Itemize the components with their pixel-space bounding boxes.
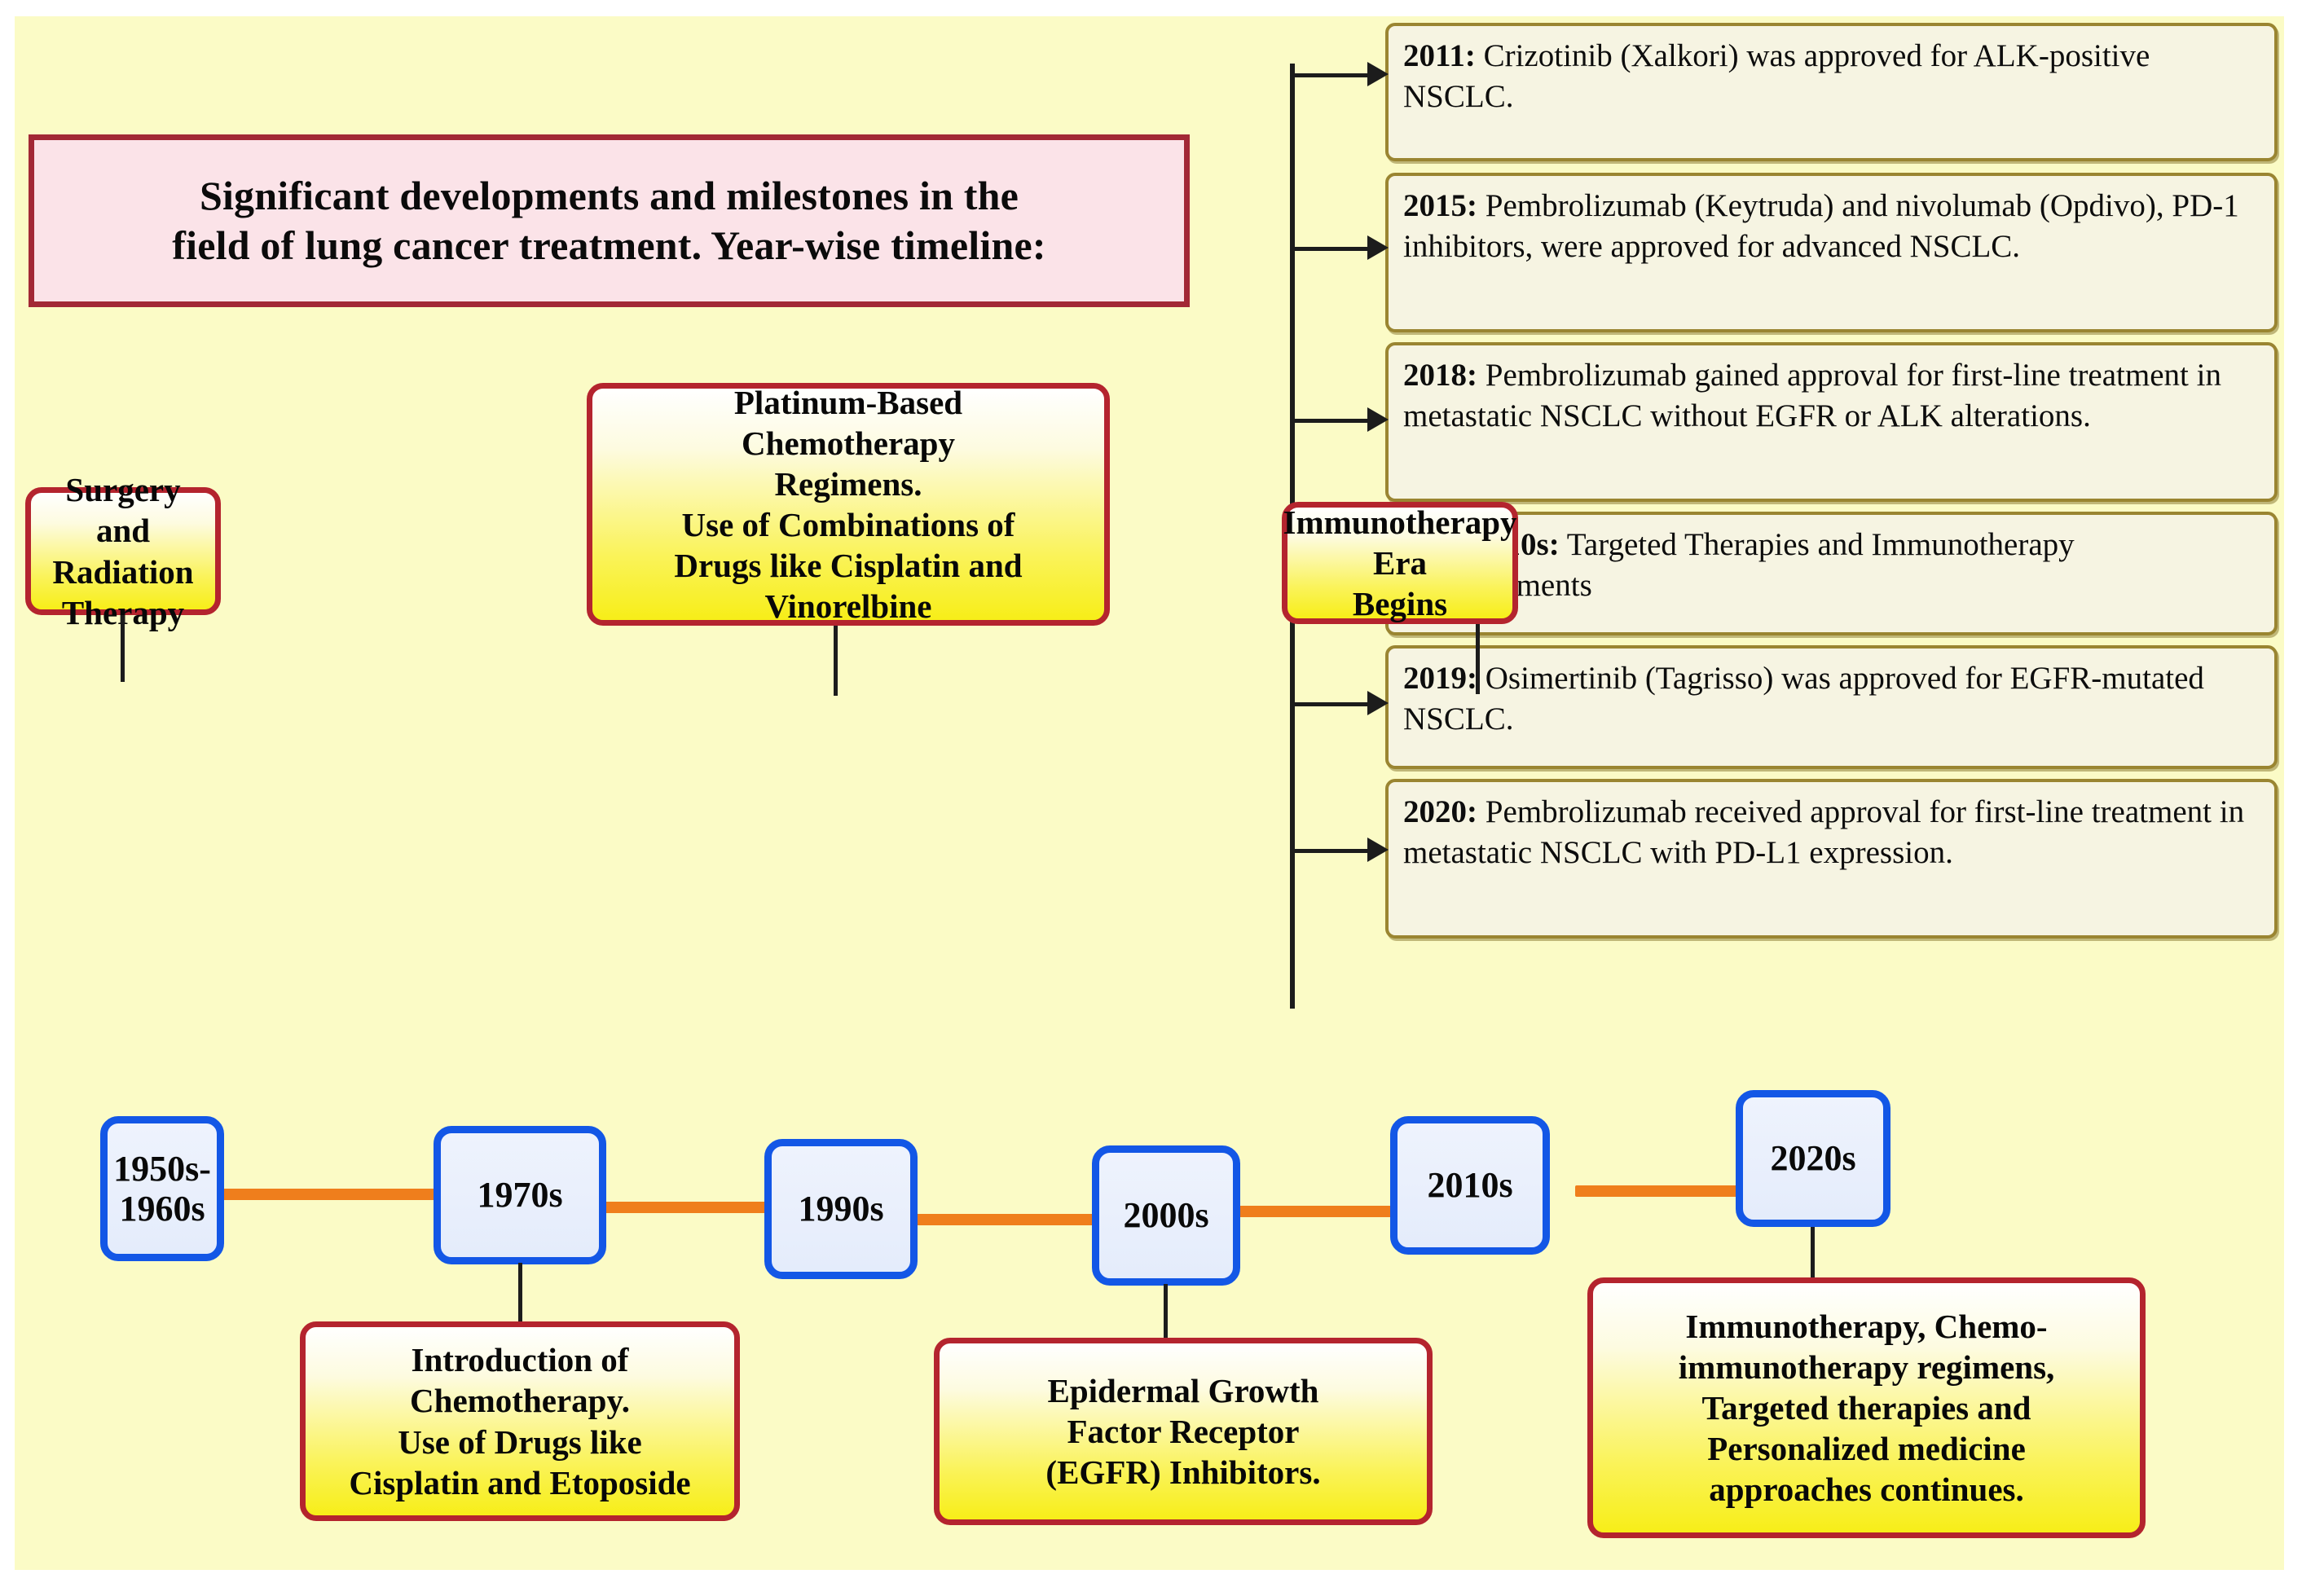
milestone-text-2015: Pembrolizumab (Keytruda) and nivolumab (… bbox=[1403, 188, 2239, 264]
callout-line: Cisplatin and Etoposide bbox=[349, 1464, 690, 1501]
milestone-box-2011: 2011: Crizotinib (Xalkori) was approved … bbox=[1385, 23, 2278, 161]
callout-platinum-chemotherapy: Platinum-Based Chemotherapy Regimens. Us… bbox=[587, 383, 1110, 626]
milestone-year-2015: 2015: bbox=[1403, 188, 1477, 223]
milestone-box-late-2010s: Late 2010s: Targeted Therapies and Immun… bbox=[1385, 512, 2278, 635]
arrow-icon-2015 bbox=[1367, 235, 1389, 260]
milestone-box-2019: 2019: Osimertinib (Tagrisso) was approve… bbox=[1385, 645, 2278, 769]
callout-line: Immunotherapy Era bbox=[1283, 503, 1516, 582]
milestone-branch-line-2015 bbox=[1292, 247, 1372, 251]
node-line: 1950s- bbox=[113, 1149, 211, 1189]
milestone-box-2015: 2015: Pembrolizumab (Keytruda) and nivol… bbox=[1385, 173, 2278, 332]
timeline-connector-4 bbox=[1237, 1206, 1392, 1217]
callout-immunotherapy-era: Immunotherapy Era Begins bbox=[1282, 502, 1518, 624]
arrow-icon-2019 bbox=[1367, 691, 1389, 715]
timeline-node-label-2000s: 2000s bbox=[1123, 1195, 1208, 1235]
milestone-text-2011: Crizotinib (Xalkori) was approved for AL… bbox=[1403, 38, 2150, 114]
callout-line: Personalized medicine bbox=[1707, 1430, 2026, 1467]
arrow-icon-2011 bbox=[1367, 62, 1389, 86]
callout-modern-text: Immunotherapy, Chemo- immunotherapy regi… bbox=[1679, 1306, 2055, 1510]
callout-surgery-radiation: Surgery and Radiation Therapy bbox=[25, 487, 221, 615]
callout-line: Use of Combinations of bbox=[682, 506, 1015, 543]
callout-line: Regimens. bbox=[774, 465, 922, 503]
callout-line: Introduction of bbox=[412, 1341, 629, 1378]
diagram-title-box: Significant developments and milestones … bbox=[29, 134, 1190, 307]
callout-line: Chemotherapy bbox=[742, 424, 955, 462]
timeline-node-2020s[interactable]: 2020s bbox=[1736, 1090, 1890, 1227]
callout-line: approaches continues. bbox=[1709, 1471, 2024, 1508]
timeline-connector-1 bbox=[222, 1189, 436, 1200]
milestone-branch-line-2018 bbox=[1292, 419, 1372, 423]
timeline-connector-5 bbox=[1575, 1185, 1738, 1197]
timeline-node-label-1970s: 1970s bbox=[477, 1175, 562, 1215]
callout-platinum-text: Platinum-Based Chemotherapy Regimens. Us… bbox=[674, 382, 1022, 627]
milestone-branch-line-2011 bbox=[1292, 73, 1372, 77]
arrow-icon-2020 bbox=[1367, 838, 1389, 862]
callout-line: (EGFR) Inhibitors. bbox=[1045, 1453, 1320, 1491]
callout-line: Chemotherapy. bbox=[410, 1382, 630, 1419]
callout-egfr-text: Epidermal Growth Factor Receptor (EGFR) … bbox=[1045, 1370, 1320, 1493]
milestone-text-2018: Pembrolizumab gained approval for first-… bbox=[1403, 358, 2221, 433]
diagram-title-text: Significant developments and milestones … bbox=[151, 171, 1067, 270]
title-line-1: Significant developments and milestones … bbox=[200, 173, 1019, 218]
diagram-canvas: Significant developments and milestones … bbox=[15, 16, 2284, 1570]
callout-line: Epidermal Growth bbox=[1048, 1372, 1319, 1409]
milestone-box-2018: 2018: Pembrolizumab gained approval for … bbox=[1385, 342, 2278, 502]
milestone-year-2019: 2019: bbox=[1403, 661, 1477, 696]
timeline-node-label-1950s-1960s: 1950s- 1960s bbox=[113, 1149, 211, 1229]
milestone-branch-line-2020 bbox=[1292, 849, 1372, 853]
callout-line: Surgery and bbox=[65, 471, 180, 549]
connector-platinum-to-1990s bbox=[834, 626, 838, 696]
callout-line: Vinorelbine bbox=[764, 587, 931, 625]
title-line-2: field of lung cancer treatment. Year-wis… bbox=[172, 222, 1045, 268]
connector-2000s-to-egfr bbox=[1164, 1284, 1168, 1343]
callout-line: Radiation bbox=[52, 553, 193, 591]
timeline-connector-2 bbox=[605, 1202, 771, 1213]
arrow-icon-2018 bbox=[1367, 407, 1389, 432]
callout-chemo-intro-text: Introduction of Chemotherapy. Use of Dru… bbox=[349, 1339, 690, 1502]
timeline-node-label-1990s: 1990s bbox=[798, 1189, 883, 1229]
connector-1970s-to-chemo-intro bbox=[518, 1263, 522, 1328]
milestone-year-2011: 2011: bbox=[1403, 38, 1476, 73]
timeline-node-1950s-1960s[interactable]: 1950s- 1960s bbox=[100, 1116, 224, 1261]
milestone-year-2018: 2018: bbox=[1403, 358, 1477, 393]
callout-line: Platinum-Based bbox=[734, 384, 962, 421]
connector-surgery-to-1950s bbox=[121, 615, 125, 682]
callout-modern-approaches: Immunotherapy, Chemo- immunotherapy regi… bbox=[1587, 1277, 2146, 1538]
callout-immuno-era-text: Immunotherapy Era Begins bbox=[1283, 502, 1516, 624]
callout-chemotherapy-introduction: Introduction of Chemotherapy. Use of Dru… bbox=[300, 1321, 740, 1521]
connector-immuno-era-to-2010s bbox=[1476, 624, 1480, 694]
timeline-node-2010s[interactable]: 2010s bbox=[1390, 1116, 1550, 1255]
milestone-box-2020: 2020: Pembrolizumab received approval fo… bbox=[1385, 779, 2278, 939]
callout-line: immunotherapy regimens, bbox=[1679, 1348, 2055, 1386]
milestone-branch-line-2019 bbox=[1292, 702, 1372, 706]
timeline-node-label-2020s: 2020s bbox=[1770, 1138, 1855, 1178]
callout-line: Drugs like Cisplatin and bbox=[674, 547, 1022, 584]
milestone-text-2019: Osimertinib (Tagrisso) was approved for … bbox=[1403, 661, 2204, 736]
callout-egfr-inhibitors: Epidermal Growth Factor Receptor (EGFR) … bbox=[934, 1338, 1433, 1525]
timeline-node-label-2010s: 2010s bbox=[1427, 1165, 1512, 1205]
timeline-node-1970s[interactable]: 1970s bbox=[434, 1126, 606, 1264]
node-line: 1960s bbox=[119, 1189, 205, 1229]
milestone-year-2020: 2020: bbox=[1403, 794, 1477, 829]
timeline-node-2000s[interactable]: 2000s bbox=[1092, 1145, 1240, 1286]
callout-line: Targeted therapies and bbox=[1702, 1389, 2031, 1427]
callout-surgery-radiation-text: Surgery and Radiation Therapy bbox=[42, 469, 204, 632]
callout-line: Begins bbox=[1353, 585, 1447, 622]
callout-line: Factor Receptor bbox=[1067, 1413, 1300, 1450]
timeline-node-1990s[interactable]: 1990s bbox=[764, 1139, 918, 1279]
milestone-text-2020: Pembrolizumab received approval for firs… bbox=[1403, 794, 2244, 870]
callout-line: Immunotherapy, Chemo- bbox=[1685, 1308, 2047, 1345]
callout-line: Use of Drugs like bbox=[398, 1423, 642, 1461]
timeline-connector-3 bbox=[914, 1214, 1095, 1225]
